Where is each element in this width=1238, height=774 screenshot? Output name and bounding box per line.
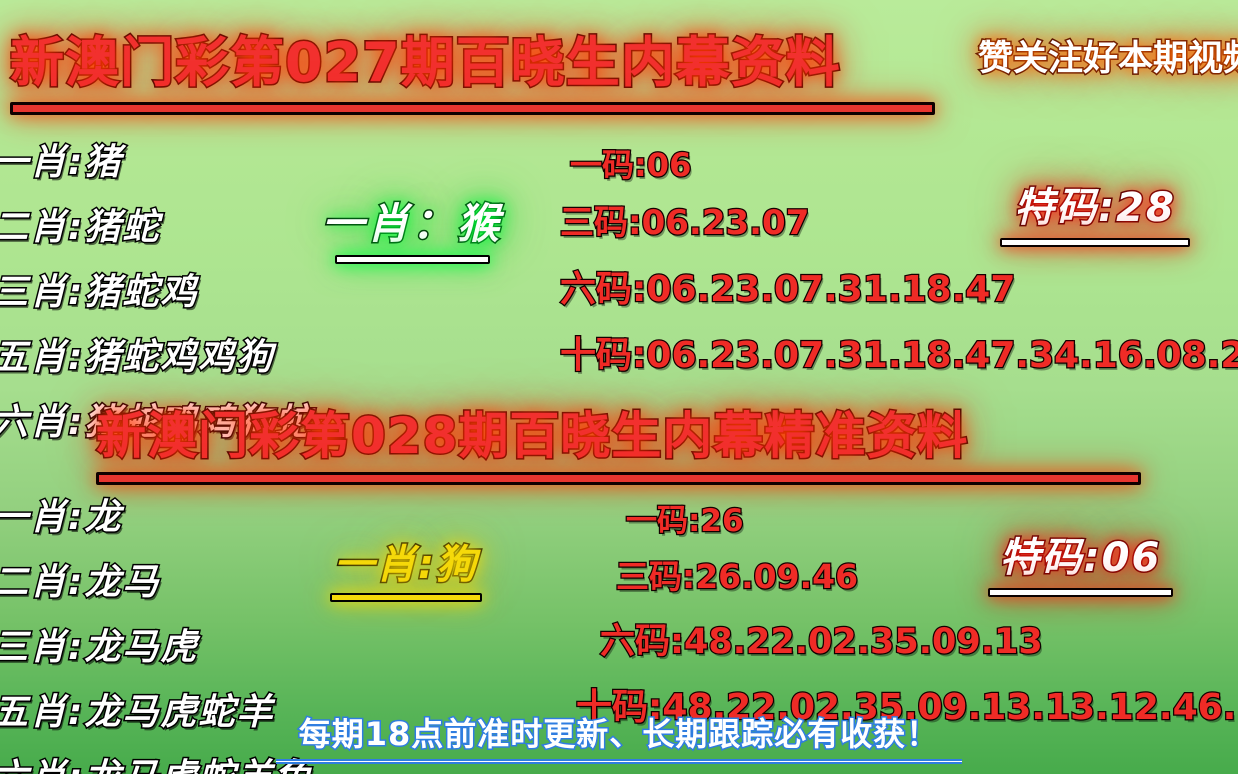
zodiac-line: 一肖:龙 xyxy=(0,488,312,540)
section-2-special-underline xyxy=(988,588,1173,597)
section-1-pick-highlight: 一肖：猴 xyxy=(322,190,502,264)
zodiac-line: 五肖:猪蛇鸡鸡狗 xyxy=(0,328,312,380)
section-1-special-code: 特码:28 xyxy=(1000,175,1190,247)
section-1-special-underline xyxy=(1000,238,1190,247)
poster-canvas: 新澳门彩第027期百晓生内幕资料 赞关注好本期视频 一肖:猪 二肖:猪蛇 三肖:… xyxy=(0,0,1238,774)
promo-text: 赞关注好本期视频 xyxy=(978,30,1238,81)
zodiac-line: 一肖:猪 xyxy=(0,133,312,185)
section-1-title-text: 新澳门彩第027期百晓生内幕资料 xyxy=(10,18,841,97)
section-2-pick-highlight: 一肖:狗 xyxy=(330,532,482,602)
code-line: 十码:06.23.07.31.18.47.34.16.08.21 xyxy=(560,326,1238,378)
section-2-title-underline xyxy=(96,472,1141,485)
section-1-special-text: 特码:28 xyxy=(1014,175,1176,233)
section-2-pick-underline xyxy=(330,593,482,602)
footer-underline xyxy=(276,759,962,764)
section-1-pick-text: 一肖：猴 xyxy=(322,190,502,251)
code-line: 六码:48.22.02.35.09.13 xyxy=(600,613,1238,664)
section-1-pick-underline xyxy=(335,255,490,264)
section-2-pick-text: 一肖:狗 xyxy=(334,532,478,590)
section-2-special-text: 特码:06 xyxy=(1000,525,1162,583)
zodiac-line: 二肖:猪蛇 xyxy=(0,198,312,250)
section-1-title-underline xyxy=(10,102,935,115)
zodiac-line: 三肖:龙马虎 xyxy=(0,618,312,670)
section-2-special-code: 特码:06 xyxy=(988,525,1173,597)
section-2-title-text: 新澳门彩第028期百晓生内幕精准资料 xyxy=(96,396,968,468)
footer-text: 每期18点前准时更新、长期跟踪必有收获！ xyxy=(299,709,940,755)
zodiac-line: 二肖:龙马 xyxy=(0,553,312,605)
section-2-title-banner: 新澳门彩第028期百晓生内幕精准资料 xyxy=(96,396,1141,485)
code-line: 六码:06.23.07.31.18.47 xyxy=(560,260,1238,312)
zodiac-line: 三肖:猪蛇鸡 xyxy=(0,263,312,315)
footer-banner: 每期18点前准时更新、长期跟踪必有收获！ xyxy=(0,709,1238,764)
section-1-title-banner: 新澳门彩第027期百晓生内幕资料 xyxy=(10,18,935,115)
